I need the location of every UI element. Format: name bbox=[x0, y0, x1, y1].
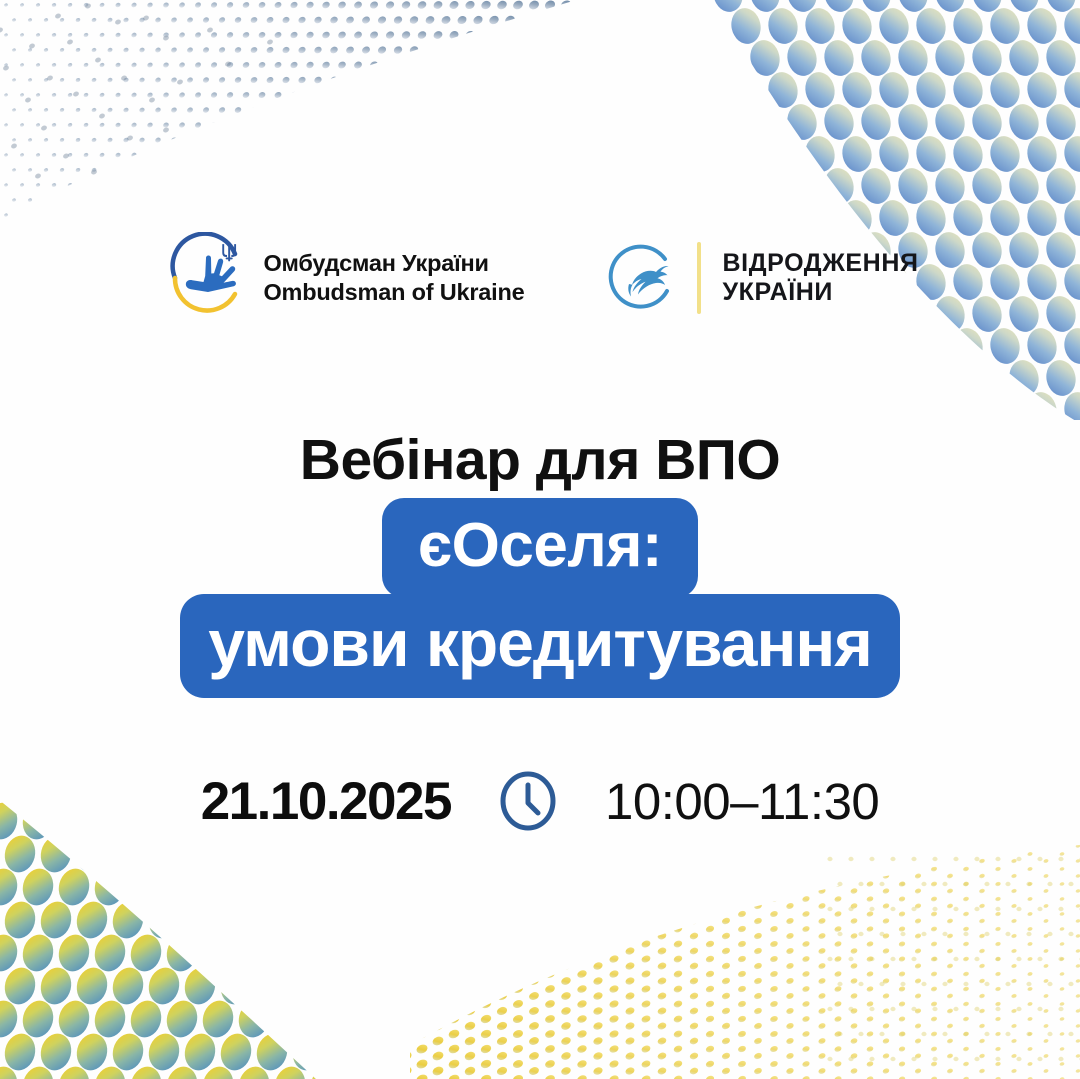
event-date: 21.10.2025 bbox=[201, 775, 451, 828]
headline-pill-row-2: умови кредитування bbox=[0, 594, 1080, 698]
logo-vidrodzhennya-ukrainy: ВІДРОДЖЕННЯ УКРАЇНИ bbox=[603, 239, 919, 317]
headline-pill-row-1: єОселя: bbox=[0, 498, 1080, 598]
decorative-halftone-dots-top-right bbox=[640, 0, 1080, 420]
ombudsman-wordmark: Омбудсман України Ombudsman of Ukraine bbox=[263, 249, 524, 306]
partner-logos-row: Омбудсман України Ombudsman of Ukraine В… bbox=[0, 232, 1080, 324]
event-time: 10:00–11:30 bbox=[605, 776, 879, 827]
vidrodzhennya-line-1: ВІДРОДЖЕННЯ bbox=[723, 249, 919, 279]
logo-ombudsman-of-ukraine: Омбудсман України Ombudsman of Ukraine bbox=[161, 232, 524, 324]
headline-pill-eoselia: єОселя: bbox=[382, 498, 698, 598]
headline-block: Вебінар для ВПО єОселя: умови кредитуван… bbox=[0, 432, 1080, 698]
logo-divider bbox=[697, 242, 701, 314]
page-title-kicker: Вебінар для ВПО bbox=[0, 432, 1080, 489]
vidrodzhennya-line-2: УКРАЇНИ bbox=[723, 278, 919, 308]
ombudsman-hand-circle-icon bbox=[161, 232, 253, 324]
ombudsman-name-en: Ombudsman of Ukraine bbox=[263, 278, 524, 307]
decorative-halftone-dots-bottom-left bbox=[0, 679, 410, 1079]
phoenix-bird-circle-icon bbox=[603, 239, 681, 317]
event-datetime-row: 21.10.2025 10:00–11:30 bbox=[0, 770, 1080, 832]
webinar-poster: Омбудсман України Ombudsman of Ukraine В… bbox=[0, 0, 1080, 1079]
ombudsman-name-uk: Омбудсман України bbox=[263, 249, 524, 278]
vidrodzhennya-wordmark: ВІДРОДЖЕННЯ УКРАЇНИ bbox=[723, 249, 919, 308]
clock-icon bbox=[497, 770, 559, 832]
headline-pill-credit-terms: умови кредитування bbox=[180, 594, 899, 698]
